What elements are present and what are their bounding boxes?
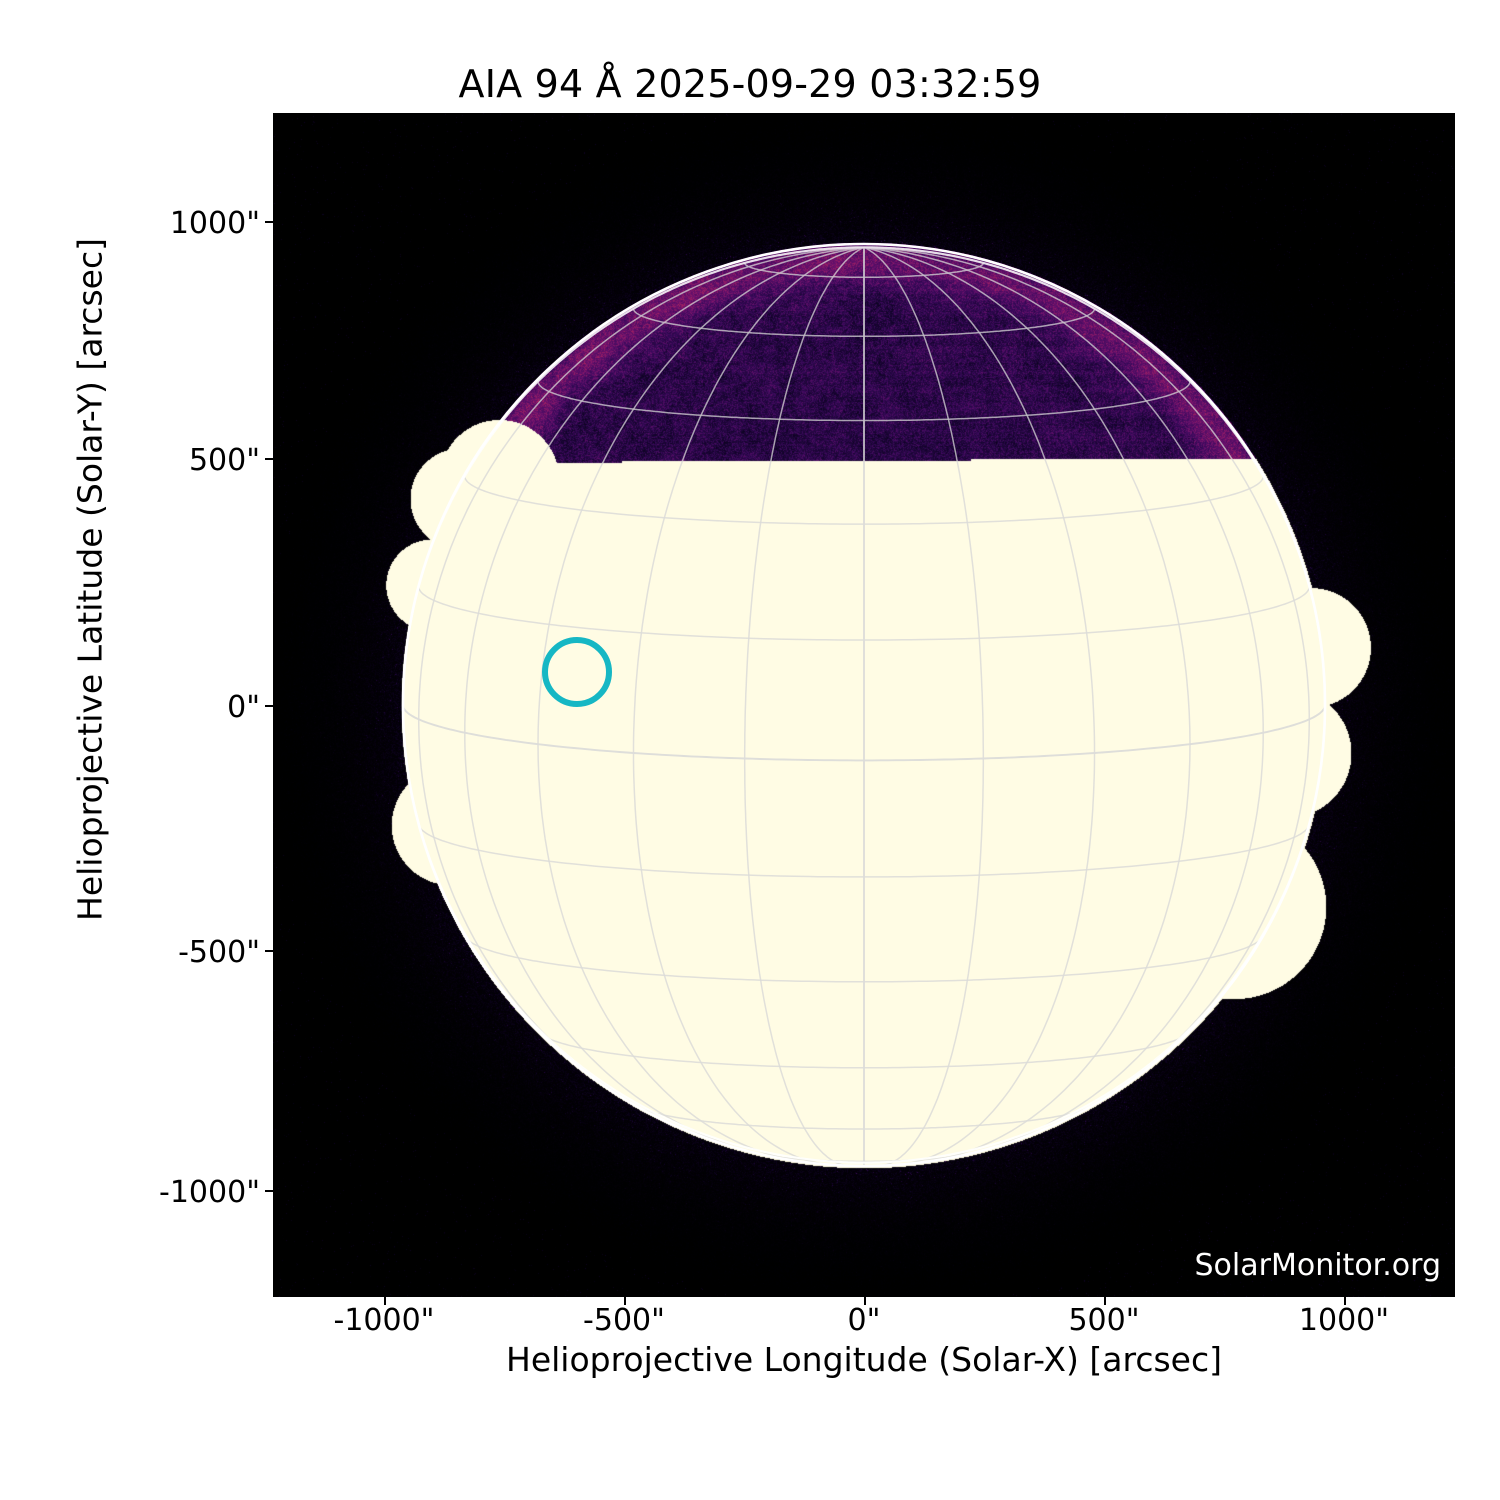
x-tick-mark-neg1000	[384, 1297, 386, 1305]
grid-line	[465, 247, 864, 1156]
x-tick-mark-0	[864, 1297, 866, 1305]
active-region-annotation-circle[interactable]	[542, 637, 612, 707]
x-axis-title: Helioprojective Longitude (Solar-X) [arc…	[273, 1340, 1455, 1379]
y-tick-mark-500	[265, 458, 273, 460]
y-tick-mark-1000	[265, 221, 273, 223]
grid-line	[864, 247, 983, 1165]
watermark-label: SolarMonitor.org	[1195, 1248, 1441, 1283]
y-tick-mark-neg1000	[265, 1190, 273, 1192]
x-tick-label-0: 0"	[774, 1303, 954, 1338]
grid-line	[864, 247, 1263, 1156]
y-tick-mark-neg500	[265, 950, 273, 952]
y-tick-label-neg1000: -1000"	[60, 1175, 260, 1210]
y-tick-label-0: 0"	[60, 690, 260, 725]
grid-svg	[273, 113, 1455, 1297]
x-tick-mark-500	[1104, 1297, 1106, 1305]
grid-line	[745, 247, 864, 1165]
x-tick-mark-1000	[1344, 1297, 1346, 1305]
grid-line	[634, 247, 865, 1165]
grid-line	[403, 247, 864, 705]
heliographic-grid-overlay	[273, 113, 1455, 1297]
grid-bounding-meridian	[403, 247, 864, 1162]
image-plot-area: SolarMonitor.org	[273, 113, 1455, 1297]
x-tick-mark-neg500	[624, 1297, 626, 1305]
x-tick-label-neg1000: -1000"	[294, 1303, 474, 1338]
y-tick-label-1000: 1000"	[60, 206, 260, 241]
grid-line	[864, 247, 1309, 1122]
grid-line	[864, 247, 1095, 1165]
solar-image-figure: AIA 94 Å 2025-09-29 03:32:59 Helioprojec…	[0, 0, 1500, 1500]
y-tick-label-neg500: -500"	[60, 935, 260, 970]
grid-line	[864, 247, 1325, 705]
figure-title: AIA 94 Å 2025-09-29 03:32:59	[0, 62, 1500, 106]
x-tick-label-neg500: -500"	[534, 1303, 714, 1338]
grid-line	[864, 247, 1190, 1162]
y-axis-title: Helioprojective Latitude (Solar-Y) [arcs…	[71, 130, 110, 1030]
x-tick-label-1000: 1000"	[1254, 1303, 1434, 1338]
grid-line	[419, 247, 864, 1122]
grid-bounding-meridian	[864, 247, 1325, 1162]
y-tick-mark-0	[265, 705, 273, 707]
x-tick-label-500: 500"	[1014, 1303, 1194, 1338]
y-tick-label-500: 500"	[60, 443, 260, 478]
